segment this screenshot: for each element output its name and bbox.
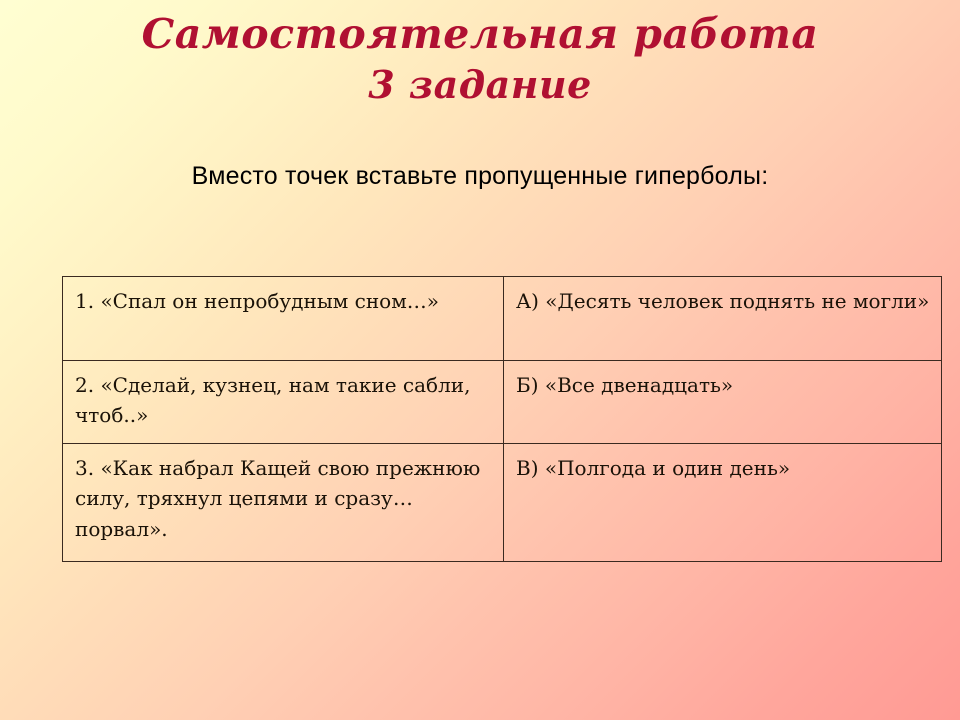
instruction-text: Вместо точек вставьте пропущенные гиперб… — [0, 162, 960, 191]
title-line-primary: Самостоятельная работа — [0, 12, 960, 56]
table-row: 1. «Спал он непробудным сном…» А) «Десят… — [63, 277, 942, 361]
table-row: 2. «Сделай, кузнец, нам такие сабли, что… — [63, 361, 942, 444]
matching-task-table: 1. «Спал он непробудным сном…» А) «Десят… — [62, 276, 942, 562]
slide-canvas: Самостоятельная работа 3 задание Вместо … — [0, 0, 960, 720]
table-cell-quote-2: 2. «Сделай, кузнец, нам такие сабли, что… — [63, 361, 504, 444]
table-cell-answer-a: А) «Десять человек поднять не могли» — [504, 277, 942, 361]
table-cell-quote-3: 3. «Как набрал Кащей свою прежнюю силу, … — [63, 443, 504, 561]
table-cell-quote-1: 1. «Спал он непробудным сном…» — [63, 277, 504, 361]
slide-title: Самостоятельная работа 3 задание — [0, 12, 960, 105]
table-cell-answer-v: В) «Полгода и один день» — [504, 443, 942, 561]
table-row: 3. «Как набрал Кащей свою прежнюю силу, … — [63, 443, 942, 561]
title-line-secondary: 3 задание — [0, 64, 960, 105]
table-cell-answer-b: Б) «Все двенадцать» — [504, 361, 942, 444]
